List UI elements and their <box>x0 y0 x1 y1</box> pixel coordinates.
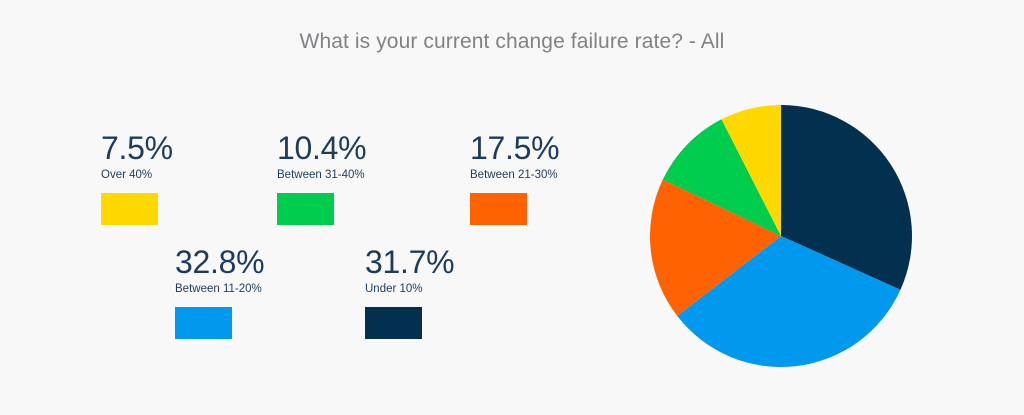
legend-value: 7.5% <box>101 131 173 165</box>
legend-color-swatch <box>277 193 334 225</box>
legend-item-between-31-40[interactable]: 10.4% Between 31-40% <box>277 131 366 225</box>
legend-value: 31.7% <box>365 245 454 279</box>
legend-color-swatch <box>365 307 422 339</box>
legend-item-between-11-20[interactable]: 32.8% Between 11-20% <box>175 245 264 339</box>
legend: 7.5% Over 40% 10.4% Between 31-40% 17.5%… <box>0 0 620 415</box>
legend-value: 17.5% <box>470 131 559 165</box>
legend-value: 10.4% <box>277 131 366 165</box>
legend-label: Under 10% <box>365 281 454 297</box>
legend-label: Between 31-40% <box>277 167 366 183</box>
legend-label: Over 40% <box>101 167 173 183</box>
legend-label: Between 21-30% <box>470 167 559 183</box>
legend-item-over-40[interactable]: 7.5% Over 40% <box>101 131 173 225</box>
legend-color-swatch <box>470 193 527 225</box>
legend-color-swatch <box>175 307 232 339</box>
legend-item-between-21-30[interactable]: 17.5% Between 21-30% <box>470 131 559 225</box>
legend-color-swatch <box>101 193 158 225</box>
pie-chart-svg <box>650 105 912 367</box>
pie-chart <box>650 105 912 367</box>
legend-value: 32.8% <box>175 245 264 279</box>
legend-label: Between 11-20% <box>175 281 264 297</box>
legend-item-under-10[interactable]: 31.7% Under 10% <box>365 245 454 339</box>
chart-container: What is your current change failure rate… <box>0 0 1024 415</box>
